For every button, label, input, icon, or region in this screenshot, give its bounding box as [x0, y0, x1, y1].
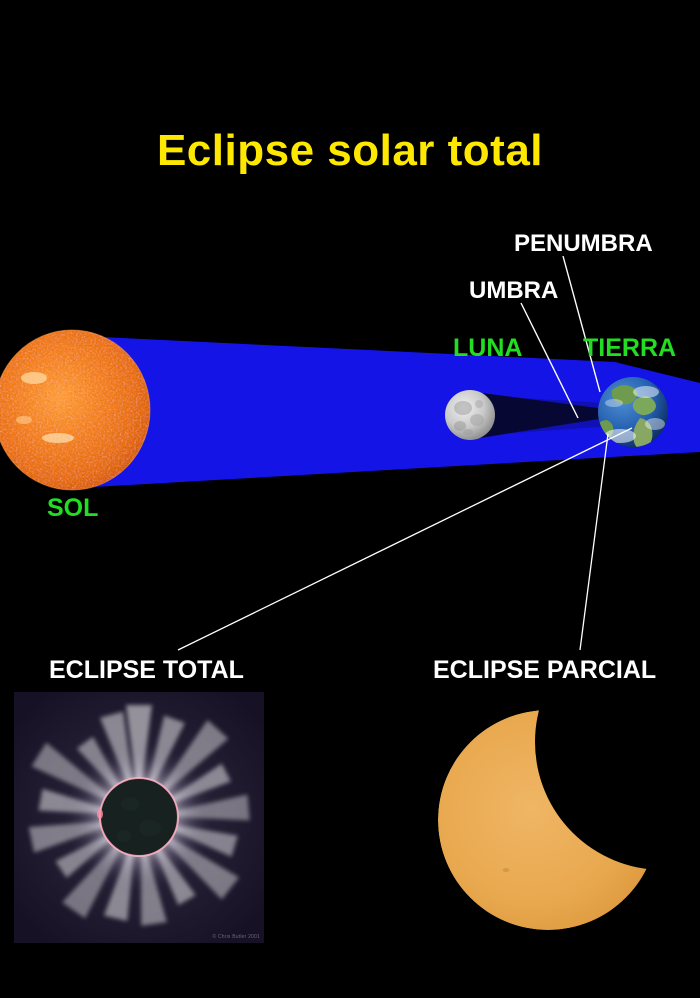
photo-watermark: © Chris Butler 2001: [212, 934, 260, 940]
moon-body: [445, 390, 495, 440]
photo-eclipse-total: © Chris Butler 2001: [14, 692, 264, 943]
caption-eclipse-total: ECLIPSE TOTAL: [49, 658, 244, 683]
total-eclipse-corona-image: [14, 692, 264, 943]
label-luna: LUNA: [453, 336, 522, 361]
label-umbra: UMBRA: [469, 279, 558, 303]
slide-canvas: Eclipse solar total: [0, 0, 700, 998]
sun-body: [0, 330, 150, 490]
label-tierra: TIERRA: [583, 336, 676, 361]
label-penumbra: PENUMBRA: [514, 232, 653, 256]
partial-eclipse-image: [420, 690, 690, 950]
eclipse-parcial-leader-line: [580, 434, 608, 650]
label-sol: SOL: [47, 496, 98, 521]
caption-eclipse-parcial: ECLIPSE PARCIAL: [433, 658, 656, 683]
photo-eclipse-parcial: [420, 690, 690, 950]
